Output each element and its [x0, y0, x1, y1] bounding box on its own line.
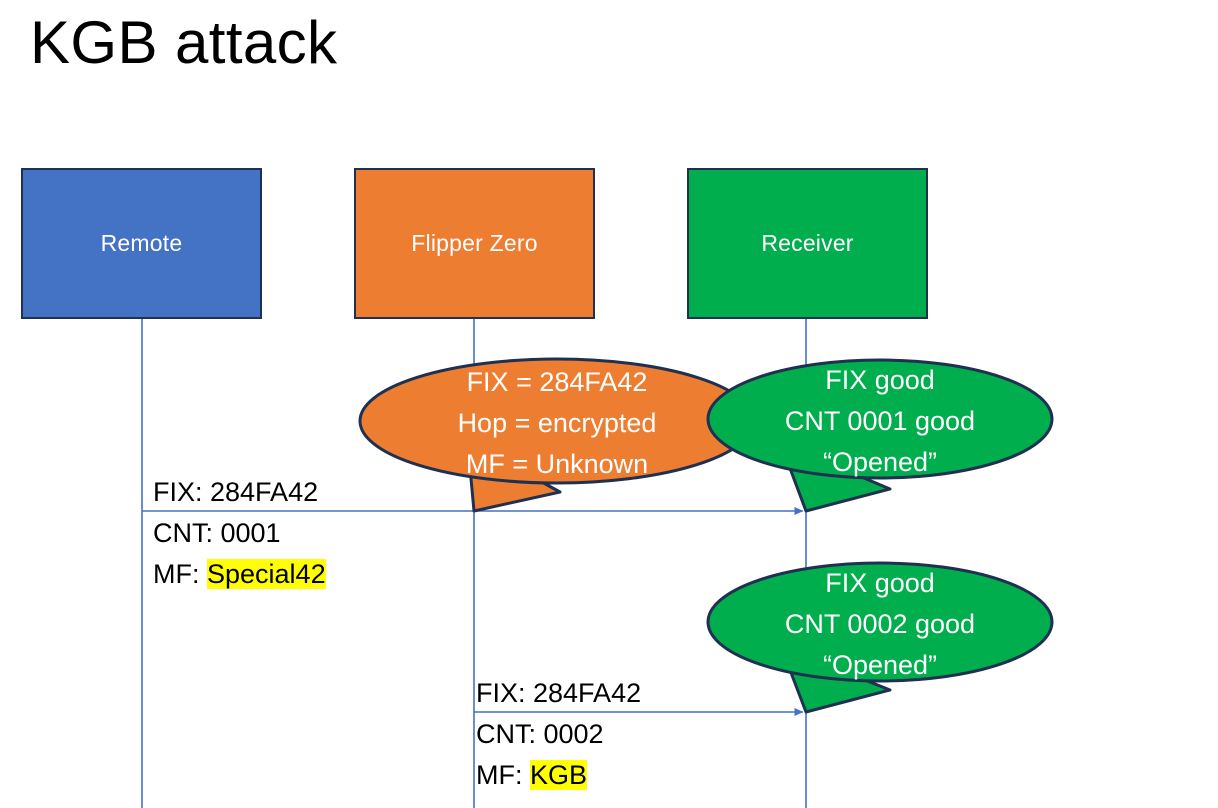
message-fix-line: FIX: 284FA42: [153, 472, 326, 513]
message-mf-value-highlight: Special42: [207, 559, 326, 589]
message-mf-value-highlight: KGB: [530, 760, 587, 790]
message-mf-line: MF: KGB: [476, 755, 641, 796]
message-mf-line: MF: Special42: [153, 554, 326, 595]
message-fix-line: FIX: 284FA42: [476, 673, 641, 714]
message-cnt-line: CNT: 0002: [476, 714, 641, 755]
callout-bubble-receiver-2: [708, 563, 1052, 712]
actor-box-receiver[interactable]: Receiver: [687, 168, 928, 319]
message-cnt-line: CNT: 0001: [153, 513, 326, 554]
actor-box-remote[interactable]: Remote: [21, 168, 262, 319]
message-label-2: FIX: 284FA42 CNT: 0002 MF: KGB: [476, 673, 641, 796]
actor-label-remote: Remote: [101, 230, 183, 257]
actor-box-flipper[interactable]: Flipper Zero: [354, 168, 595, 319]
message-mf-label: MF:: [153, 559, 207, 589]
message-label-1: FIX: 284FA42 CNT: 0001 MF: Special42: [153, 472, 326, 595]
callout-bubble-receiver-1: [708, 360, 1052, 511]
actor-label-flipper: Flipper Zero: [411, 230, 537, 257]
message-mf-label: MF:: [476, 760, 530, 790]
callout-bubble-flipper: [360, 359, 754, 511]
actor-label-receiver: Receiver: [761, 230, 853, 257]
slide-canvas: KGB attack Remote: [0, 0, 1218, 808]
